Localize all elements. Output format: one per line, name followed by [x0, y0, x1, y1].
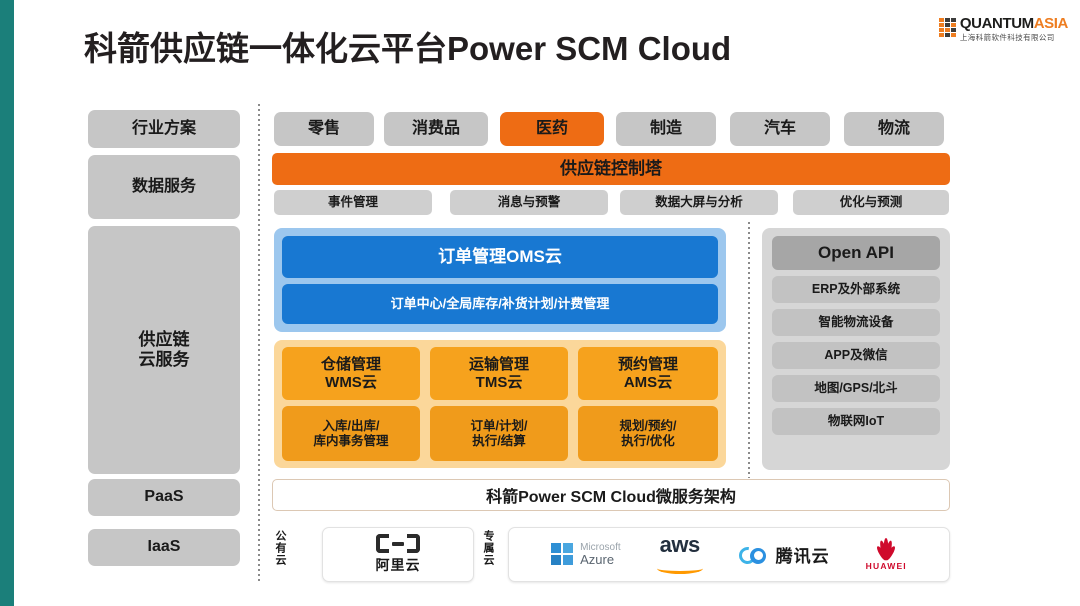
divider-left-dotted — [258, 104, 260, 582]
tab-consumer-goods[interactable]: 消费品 — [384, 112, 488, 146]
oms-title: 订单管理OMS云 — [438, 247, 562, 267]
control-tower-item-label: 消息与预警 — [498, 195, 561, 210]
vendor-label: 阿里云 — [376, 555, 421, 575]
oms-group: 订单管理OMS云 订单中心/全局库存/补货计划/计费管理 — [274, 228, 726, 332]
microservice-architecture-bar[interactable]: 科箭Power SCM Cloud微服务架构 — [272, 479, 950, 511]
control-tower-item-label: 数据大屏与分析 — [655, 195, 743, 210]
logo-word-accent: ASIA — [1034, 15, 1068, 32]
control-tower-item-label: 优化与预测 — [840, 195, 903, 210]
oms-module-card[interactable]: 订单管理OMS云 — [282, 236, 718, 278]
api-item-map-gps-beidou[interactable]: 地图/GPS/北斗 — [772, 375, 940, 402]
sidebar-label: PaaS — [144, 488, 183, 507]
logo-grid-icon — [939, 18, 956, 37]
vendor-aws[interactable]: aws — [657, 535, 703, 574]
company-logo: QUANTUMASIA 上海科箭软件科技有限公司 — [939, 16, 1068, 42]
control-tower-item-message-alert[interactable]: 消息与预警 — [450, 190, 608, 215]
sidebar-label: 供应链 云服务 — [139, 330, 190, 370]
api-panel-header-label: Open API — [818, 243, 894, 263]
tab-label: 消费品 — [412, 120, 460, 139]
left-accent-bar — [0, 0, 14, 606]
api-item-label: 智能物流设备 — [818, 315, 893, 330]
tab-retail[interactable]: 零售 — [274, 112, 374, 146]
sidebar-item-data-service[interactable]: 数据服务 — [88, 155, 240, 219]
api-item-app-wechat[interactable]: APP及微信 — [772, 342, 940, 369]
oms-subtitle: 订单中心/全局库存/补货计划/计费管理 — [391, 296, 610, 311]
api-panel: Open API ERP及外部系统 智能物流设备 APP及微信 地图/GPS/北… — [762, 228, 950, 470]
sidebar-item-iaas[interactable]: IaaS — [88, 529, 240, 566]
tab-label: 医药 — [536, 120, 568, 139]
module-card-tms[interactable]: 运输管理 TMS云 — [430, 347, 568, 400]
public-cloud-vendor-box: 阿里云 — [322, 527, 474, 582]
sidebar-label: 数据服务 — [132, 178, 196, 197]
control-tower-item-dashboard-analytics[interactable]: 数据大屏与分析 — [620, 190, 778, 215]
api-item-smart-logistics-equipment[interactable]: 智能物流设备 — [772, 309, 940, 336]
aws-smile-icon — [657, 563, 703, 574]
control-tower-banner[interactable]: 供应链控制塔 — [272, 153, 950, 185]
sidebar-item-industry-solution[interactable]: 行业方案 — [88, 110, 240, 148]
vendor-label: 腾讯云 — [776, 542, 830, 567]
api-item-label: 物联网IoT — [828, 414, 884, 429]
sidebar-item-paas[interactable]: PaaS — [88, 479, 240, 516]
vendor-azure[interactable]: Microsoft Azure — [551, 542, 621, 568]
tab-manufacturing[interactable]: 制造 — [616, 112, 716, 146]
tab-label: 物流 — [878, 120, 910, 139]
tab-label: 零售 — [308, 120, 340, 139]
vendor-tencent-cloud[interactable]: 腾讯云 — [739, 542, 830, 567]
microsoft-window-icon — [551, 543, 573, 565]
module-group: 仓储管理 WMS云 运输管理 TMS云 预约管理 AMS云 入库/出库/ 库内事… — [274, 340, 726, 468]
api-item-label: APP及微信 — [824, 348, 887, 363]
module-title: 仓储管理 WMS云 — [321, 356, 381, 391]
logo-word-main: QUANTUM — [960, 15, 1034, 32]
control-tower-item-event-management[interactable]: 事件管理 — [274, 190, 432, 215]
vendor-aliyun[interactable]: 阿里云 — [376, 534, 421, 575]
api-item-iot[interactable]: 物联网IoT — [772, 408, 940, 435]
api-item-label: ERP及外部系统 — [812, 282, 900, 297]
page-title: 科箭供应链一体化云平台Power SCM Cloud — [84, 22, 731, 70]
module-detail: 入库/出库/ 库内事务管理 — [313, 419, 388, 449]
logo-subtitle: 上海科箭软件科技有限公司 — [960, 34, 1068, 42]
module-detail-ams[interactable]: 规划/预约/ 执行/优化 — [578, 406, 718, 461]
module-detail: 规划/预约/ 执行/优化 — [620, 419, 677, 449]
huawei-flower-icon — [869, 538, 903, 560]
api-panel-header[interactable]: Open API — [772, 236, 940, 270]
module-card-ams[interactable]: 预约管理 AMS云 — [578, 347, 718, 400]
vendor-label-line2: Azure — [580, 553, 621, 568]
control-tower-title: 供应链控制塔 — [560, 159, 662, 179]
vendor-huawei[interactable]: HUAWEI — [866, 538, 907, 571]
vendor-label: aws — [660, 535, 700, 555]
tab-logistics[interactable]: 物流 — [844, 112, 944, 146]
vendor-label: HUAWEI — [866, 561, 907, 571]
sidebar-label: 行业方案 — [132, 120, 196, 139]
control-tower-item-optimization-forecast[interactable]: 优化与预测 — [793, 190, 949, 215]
api-item-label: 地图/GPS/北斗 — [814, 381, 897, 396]
api-item-erp-external-system[interactable]: ERP及外部系统 — [772, 276, 940, 303]
public-cloud-label: 公有云 — [272, 530, 288, 584]
module-detail-wms[interactable]: 入库/出库/ 库内事务管理 — [282, 406, 420, 461]
control-tower-item-label: 事件管理 — [328, 195, 378, 210]
microservice-architecture-label: 科箭Power SCM Cloud微服务架构 — [486, 483, 736, 507]
module-detail-tms[interactable]: 订单/计划/ 执行/结算 — [430, 406, 568, 461]
module-title: 运输管理 TMS云 — [469, 356, 529, 391]
sidebar-item-supply-chain-cloud-service[interactable]: 供应链 云服务 — [88, 226, 240, 474]
sidebar-label: IaaS — [148, 538, 181, 557]
divider-right-dotted — [748, 222, 750, 478]
tab-pharmaceutical[interactable]: 医药 — [500, 112, 604, 146]
module-title: 预约管理 AMS云 — [618, 356, 678, 391]
tab-label: 制造 — [650, 120, 682, 139]
private-cloud-vendor-box: Microsoft Azure aws 腾讯云 HUAWEI — [508, 527, 950, 582]
tencent-cloud-icon — [739, 545, 769, 565]
tab-automotive[interactable]: 汽车 — [730, 112, 830, 146]
private-cloud-label: 专属云 — [480, 530, 496, 584]
oms-detail-card[interactable]: 订单中心/全局库存/补货计划/计费管理 — [282, 284, 718, 324]
module-detail: 订单/计划/ 执行/结算 — [471, 419, 528, 449]
tab-label: 汽车 — [764, 120, 796, 139]
module-card-wms[interactable]: 仓储管理 WMS云 — [282, 347, 420, 400]
aliyun-icon — [376, 534, 420, 553]
